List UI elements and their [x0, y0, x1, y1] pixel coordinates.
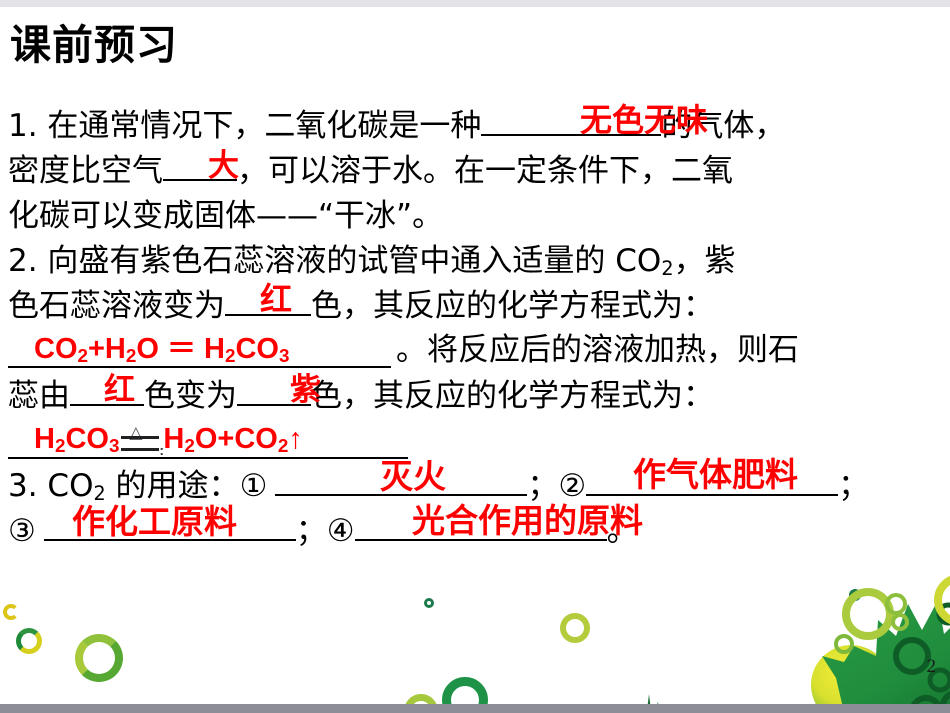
text-line-10: ③；④。 作化工原料 光合作用的原料: [8, 509, 946, 554]
reaction-condition-arrow: △:: [119, 426, 163, 455]
circle-number-4: ④: [327, 513, 355, 549]
ring-yellow-small-left: [3, 604, 19, 620]
text-line-6: CO2+H2O ＝ H2CO3 。将反应后的溶液加热，则石: [8, 329, 946, 374]
bottom-edge-bar: [0, 704, 950, 713]
blank-7[interactable]: [8, 457, 408, 459]
text-line-1: 1. 在通常情况下，二氧化碳是一种的气体， 无色无味: [8, 104, 946, 149]
eq1-sub-3: 2: [225, 345, 235, 366]
line1-text-before: 1. 在通常情况下，二氧化碳是一种: [8, 108, 481, 144]
text-line-3: 化碳可以变成固体——“干冰”。: [8, 194, 946, 239]
eq1-sub-2: 2: [126, 345, 136, 366]
line2-text-before: 密度比空气: [8, 153, 163, 189]
line5-text-before: 色石蕊溶液变为: [8, 288, 225, 324]
answer-2: 大: [208, 144, 239, 189]
eq2-sub-3: 2: [184, 435, 194, 456]
equals-line-icon: [121, 436, 159, 451]
eq2-part-c: H: [163, 423, 184, 455]
text-line-7: 蕊由色变为色，其反应的化学方程式为： 红 紫: [8, 374, 946, 419]
page-number: 2: [927, 656, 937, 678]
eq2-part-a: H: [34, 423, 55, 455]
line4-text-before: 2. 向盛有紫色石蕊溶液的试管中通入适量的 CO: [8, 243, 661, 279]
decorative-artwork: [0, 560, 950, 713]
answer-7: 作气体肥料: [633, 452, 798, 497]
ring-tiny-dark-mid: [424, 598, 434, 608]
line3-text: 化碳可以变成固体——“干冰”。: [8, 198, 443, 234]
semicolon-2: ；: [838, 468, 869, 504]
answer-4: 红: [104, 368, 135, 413]
line6-trailing-text: 。将反应后的溶液加热，则石: [396, 328, 799, 373]
eq1-part-b: +H: [88, 333, 126, 365]
line5-text-after: 色，其反应的化学方程式为：: [311, 288, 714, 324]
text-line-2: 密度比空气，可以溶于水。在一定条件下，二氧 大: [8, 149, 946, 194]
eq1-part-d: CO: [235, 333, 279, 365]
circle-number-3: ③: [8, 513, 36, 549]
text-line-5: 色石蕊溶液变为色，其反应的化学方程式为： 红: [8, 284, 946, 329]
ring-olive-right-mid: [560, 613, 590, 643]
semicolon-3: ；: [296, 513, 327, 549]
blank-4[interactable]: [8, 366, 391, 368]
line7-text-a: 蕊由: [8, 378, 70, 414]
line4-subscript: 2: [661, 257, 673, 280]
line7-text-c: 色，其反应的化学方程式为：: [311, 378, 714, 414]
line4-text-after: ，紫: [674, 243, 736, 279]
eq1-sub-4: 3: [279, 345, 289, 366]
answer-5: 紫: [290, 368, 321, 413]
top-edge-bar: [0, 0, 950, 7]
answer-1: 无色无味: [580, 98, 708, 143]
text-line-8: H2CO3△:H2O+CO2↑: [8, 419, 946, 464]
eq1-part-c: O ＝ H: [136, 333, 225, 365]
slide-canvas: 课前预习 1. 在通常情况下，二氧化碳是一种的气体， 无色无味 密度比空气，可以…: [0, 0, 950, 713]
eq1-part-a: CO: [34, 333, 78, 365]
eq1-sub-1: 2: [78, 345, 88, 366]
answer-8: 作化工原料: [72, 499, 237, 544]
line7-text-b: 色变为: [144, 378, 237, 414]
answer-3: 红: [260, 277, 292, 322]
line2-text-after: ，可以溶于水。在一定条件下，二氧: [237, 153, 733, 189]
eq2-sub-4: 2: [278, 435, 288, 456]
ring-big-green-left: [75, 634, 123, 682]
page-title: 课前预习: [10, 25, 178, 66]
eq2-gas-arrow: ↑: [288, 423, 303, 455]
eq2-sub-1: 2: [55, 435, 65, 456]
equation-1: CO2+H2O ＝ H2CO3: [34, 327, 289, 378]
eq2-sub-2: 3: [109, 435, 119, 456]
answer-6: 灭火: [380, 454, 446, 499]
eq2-part-d: O+CO: [195, 423, 278, 455]
text-line-4: 2. 向盛有紫色石蕊溶液的试管中通入适量的 CO2，紫: [8, 239, 946, 284]
exercise-body: 1. 在通常情况下，二氧化碳是一种的气体， 无色无味 密度比空气，可以溶于水。在…: [8, 104, 946, 554]
answer-9: 光合作用的原料: [412, 498, 643, 543]
eq2-part-b: CO: [65, 423, 109, 455]
equation-2: H2CO3△:H2O+CO2↑: [34, 417, 303, 468]
leaf-outer-ring-1: [938, 578, 950, 622]
leaf-side-ring-1: [846, 592, 890, 636]
ring-green-yellow-left: [16, 628, 42, 654]
circle-number-1: ①: [240, 468, 268, 504]
maple-leaf-graphic: [726, 560, 950, 713]
